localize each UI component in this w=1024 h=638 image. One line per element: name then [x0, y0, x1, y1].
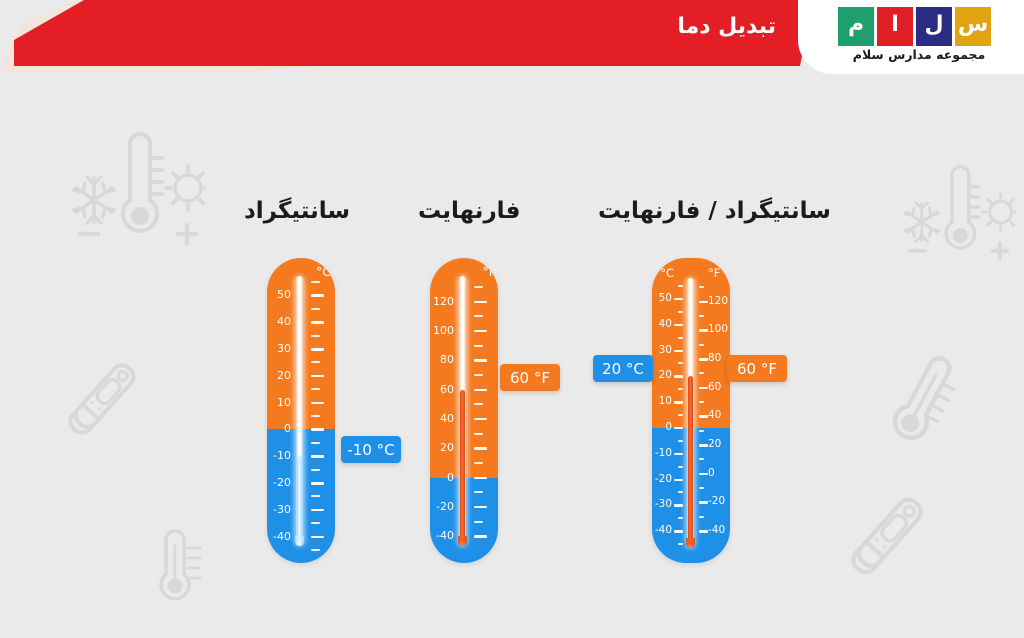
scale-label: -20 — [708, 496, 730, 507]
scale-major-tick — [311, 402, 324, 405]
scale-minor-tick — [678, 543, 683, 545]
scale-major-tick — [474, 535, 487, 538]
scale-label: -40 — [430, 530, 454, 541]
mercury-column — [688, 376, 693, 545]
scale-minor-tick — [474, 286, 483, 288]
mercury-bulb — [295, 536, 304, 546]
scale-minor-tick — [311, 549, 320, 551]
thermometer-icon — [150, 528, 214, 606]
scale-label: -10 — [269, 450, 291, 461]
thermometer-dual-tube: 50403020100-10-20-30-40°C120100806040200… — [652, 258, 730, 563]
scale-major-tick — [311, 321, 324, 324]
scale-label: 60 — [430, 384, 454, 395]
mercury-column — [297, 456, 302, 543]
scale-major-tick — [674, 453, 683, 456]
header-banner: تبدیل دما م ا ل س مجموعه مدارس سلام — [0, 0, 1024, 78]
tilted-thermometer-icon — [876, 352, 976, 452]
scale-minor-tick — [311, 522, 320, 524]
scale-minor-tick — [474, 315, 483, 317]
scale-minor-tick — [678, 285, 683, 287]
scale-major-tick — [699, 501, 708, 504]
scale-label: 100 — [430, 325, 454, 336]
scale-label: -40 — [269, 531, 291, 542]
scale-major-tick — [699, 530, 708, 533]
scale-minor-tick — [311, 281, 320, 283]
scale-major-tick — [699, 473, 708, 476]
thermometer-dual: 50403020100-10-20-30-40°C120100806040200… — [652, 258, 730, 563]
scale-label: -20 — [652, 474, 672, 485]
scale-label: 40 — [269, 316, 291, 327]
digital-thermometer-icon — [840, 492, 960, 612]
scale-label: 30 — [652, 345, 672, 356]
scale-major-tick — [311, 482, 324, 485]
mercury-bulb — [458, 536, 467, 546]
scale-major-tick — [674, 375, 683, 378]
scale-major-tick — [674, 479, 683, 482]
scale-label: 0 — [269, 423, 291, 434]
scale-minor-tick — [474, 491, 483, 493]
scale-major-tick — [474, 359, 487, 362]
scale-major-tick — [699, 329, 708, 332]
scale-minor-tick — [678, 466, 683, 468]
badge-dual-celsius-reading[interactable]: 20 °C — [593, 355, 653, 382]
logo-caption: مجموعه مدارس سلام — [844, 47, 994, 62]
scale-major-tick — [311, 294, 324, 297]
scale-label: 40 — [652, 319, 672, 330]
mercury-bulb — [686, 538, 695, 548]
scale-minor-tick — [678, 311, 683, 313]
scale-label: 40 — [708, 410, 730, 421]
scale-major-tick — [474, 477, 487, 480]
scale-major-tick — [699, 415, 708, 418]
badge-dual-fahrenheit-reading[interactable]: 60 °F — [727, 355, 787, 382]
scale-major-tick — [474, 389, 487, 392]
snowflake-thermometer-sun-icon — [898, 160, 1016, 265]
scale-minor-tick — [311, 388, 320, 390]
scale-label: 10 — [269, 397, 291, 408]
scale-minor-tick — [311, 335, 320, 337]
thermometer-fahrenheit: 120100806040200-20-40°F — [430, 258, 498, 563]
heading-celsius: سانتیگراد — [244, 198, 350, 224]
scale-major-tick — [674, 530, 683, 533]
scale-label: 50 — [269, 289, 291, 300]
scale-label: -40 — [652, 525, 672, 536]
scale-label: -20 — [430, 501, 454, 512]
unit-label: °F — [472, 264, 496, 279]
scale-label: 0 — [708, 468, 730, 479]
scale-major-tick — [674, 504, 683, 507]
badge-fahrenheit-reading[interactable]: 60 °F — [500, 364, 560, 391]
mercury-column — [460, 390, 465, 543]
scale-label: 40 — [430, 413, 454, 424]
unit-label: °C — [654, 266, 674, 280]
scale-major-tick — [311, 375, 324, 378]
scale-label: 100 — [708, 324, 730, 335]
scale-minor-tick — [699, 516, 704, 518]
scale-minor-tick — [699, 315, 704, 317]
scale-major-tick — [311, 455, 324, 458]
digital-thermometer-icon — [58, 358, 170, 470]
slide-canvas: تبدیل دما م ا ل س مجموعه مدارس سلام — [0, 0, 1024, 638]
scale-label: 20 — [708, 439, 730, 450]
scale-major-tick — [311, 348, 324, 351]
scale-minor-tick — [678, 414, 683, 416]
heading-celsius-fahrenheit: سانتیگراد / فارنهایت — [598, 198, 831, 224]
scale-major-tick — [674, 401, 683, 404]
scale-minor-tick — [474, 374, 483, 376]
scale-major-tick — [311, 428, 324, 431]
logo-square-alef: ا — [877, 7, 913, 46]
brand-logo: م ا ل س مجموعه مدارس سلام — [838, 7, 994, 65]
scale-label: 60 — [708, 382, 730, 393]
scale-label: 120 — [708, 296, 730, 307]
logo-square-lam: ل — [916, 7, 952, 46]
scale-minor-tick — [678, 440, 683, 442]
scale-label: -30 — [652, 499, 672, 510]
scale-minor-tick — [699, 401, 704, 403]
scale-label: 80 — [430, 354, 454, 365]
scale-major-tick — [311, 509, 324, 512]
scale-minor-tick — [311, 469, 320, 471]
snowflake-thermometer-sun-icon — [66, 126, 206, 251]
scale-major-tick — [311, 536, 324, 539]
scale-label: 20 — [269, 370, 291, 381]
logo-squares: م ا ل س — [838, 7, 994, 43]
scale-minor-tick — [474, 462, 483, 464]
scale-label: -30 — [269, 504, 291, 515]
scale-major-tick — [699, 358, 708, 361]
scale-major-tick — [474, 447, 487, 450]
scale-label: 20 — [652, 370, 672, 381]
scale-minor-tick — [311, 442, 320, 444]
thermometer-fahrenheit-tube: 120100806040200-20-40°F — [430, 258, 498, 563]
scale-label: 120 — [430, 296, 454, 307]
scale-minor-tick — [699, 344, 704, 346]
scale-minor-tick — [311, 308, 320, 310]
scale-label: -40 — [708, 525, 730, 536]
scale-minor-tick — [474, 433, 483, 435]
scale-minor-tick — [678, 517, 683, 519]
scale-major-tick — [699, 387, 708, 390]
thermometer-celsius-tube: 50403020100-10-20-30-40°C — [267, 258, 335, 563]
unit-label: °F — [708, 266, 730, 280]
scale-major-tick — [699, 301, 708, 304]
scale-label: 10 — [652, 396, 672, 407]
scale-major-tick — [474, 301, 487, 304]
scale-major-tick — [699, 444, 708, 447]
scale-major-tick — [674, 350, 683, 353]
thermometer-celsius: 50403020100-10-20-30-40°C — [267, 258, 335, 563]
logo-square-mim: م — [838, 7, 874, 46]
scale-label: 0 — [430, 472, 454, 483]
scale-minor-tick — [474, 521, 483, 523]
scale-minor-tick — [678, 337, 683, 339]
scale-major-tick — [674, 324, 683, 327]
scale-label: -20 — [269, 477, 291, 488]
scale-minor-tick — [678, 388, 683, 390]
scale-minor-tick — [699, 430, 704, 432]
page-title: تبدیل دما — [677, 14, 776, 39]
scale-minor-tick — [699, 487, 704, 489]
scale-label: -10 — [652, 448, 672, 459]
unit-label: °C — [309, 264, 331, 279]
scale-label: 0 — [652, 422, 672, 433]
scale-label: 30 — [269, 343, 291, 354]
logo-square-sin: س — [955, 7, 991, 46]
heading-fahrenheit: فارنهایت — [418, 198, 520, 224]
scale-minor-tick — [474, 345, 483, 347]
scale-minor-tick — [474, 403, 483, 405]
badge-celsius-reading[interactable]: -10 °C — [341, 436, 401, 463]
scale-minor-tick — [311, 415, 320, 417]
scale-label: 50 — [652, 293, 672, 304]
scale-label: 20 — [430, 442, 454, 453]
